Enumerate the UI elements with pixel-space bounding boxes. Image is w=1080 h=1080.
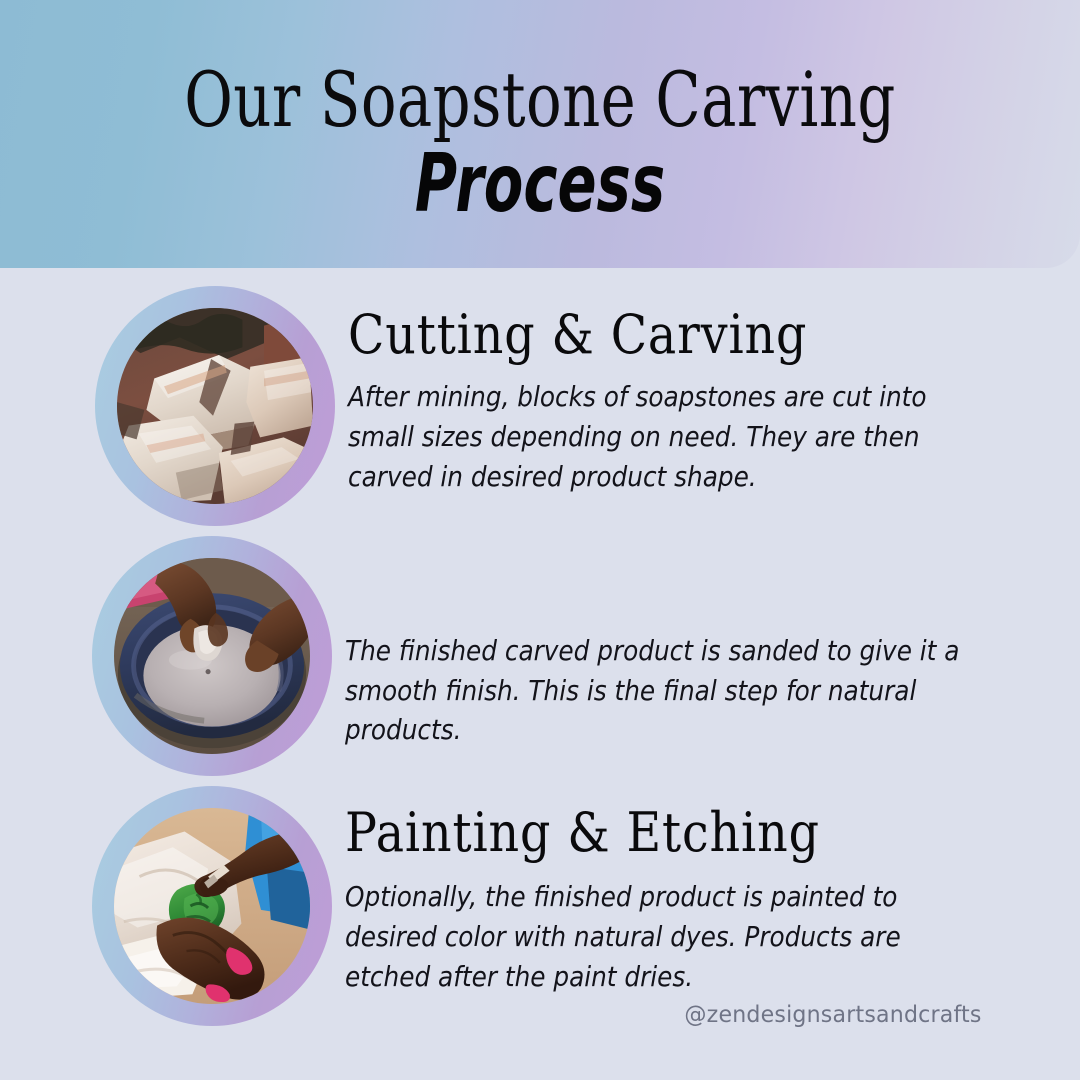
step-1-heading: Cutting & Carving bbox=[348, 306, 957, 364]
painting-carving-photo bbox=[114, 808, 310, 1004]
soapstone-blocks-illustration bbox=[117, 308, 313, 504]
title-block: Our Soapstone Carving Process bbox=[0, 0, 1080, 226]
painting-carving-illustration bbox=[114, 808, 310, 1004]
process-step-2: The finished carved product is sanded to… bbox=[0, 536, 1080, 786]
step-1-text: Cutting & Carving After mining, blocks o… bbox=[335, 286, 1080, 497]
page-title-line-2: Process bbox=[151, 140, 929, 226]
process-steps-list: Cutting & Carving After mining, blocks o… bbox=[0, 268, 1080, 1080]
step-2-body: The finished carved product is sanded to… bbox=[345, 632, 971, 751]
step-3-image-ring bbox=[92, 786, 332, 1026]
social-handle: @zendesignsartsandcrafts bbox=[685, 1002, 982, 1028]
process-step-1: Cutting & Carving After mining, blocks o… bbox=[0, 286, 1080, 536]
step-3-body: Optionally, the finished product is pain… bbox=[345, 878, 971, 997]
poster-canvas: Our Soapstone Carving Process bbox=[0, 0, 1080, 1080]
step-3-text: Painting & Etching Optionally, the finis… bbox=[332, 786, 1080, 997]
soapstone-blocks-photo bbox=[117, 308, 313, 504]
step-3-heading: Painting & Etching bbox=[345, 804, 957, 862]
page-title-line-1: Our Soapstone Carving bbox=[119, 0, 961, 140]
step-1-body: After mining, blocks of soapstones are c… bbox=[348, 378, 971, 497]
header-band: Our Soapstone Carving Process bbox=[0, 0, 1080, 268]
sanding-in-basin-photo bbox=[114, 558, 310, 754]
step-1-image-ring bbox=[95, 286, 335, 526]
step-2-image-ring bbox=[92, 536, 332, 776]
sanding-in-basin-illustration bbox=[114, 558, 310, 754]
step-2-text: The finished carved product is sanded to… bbox=[332, 536, 1080, 751]
